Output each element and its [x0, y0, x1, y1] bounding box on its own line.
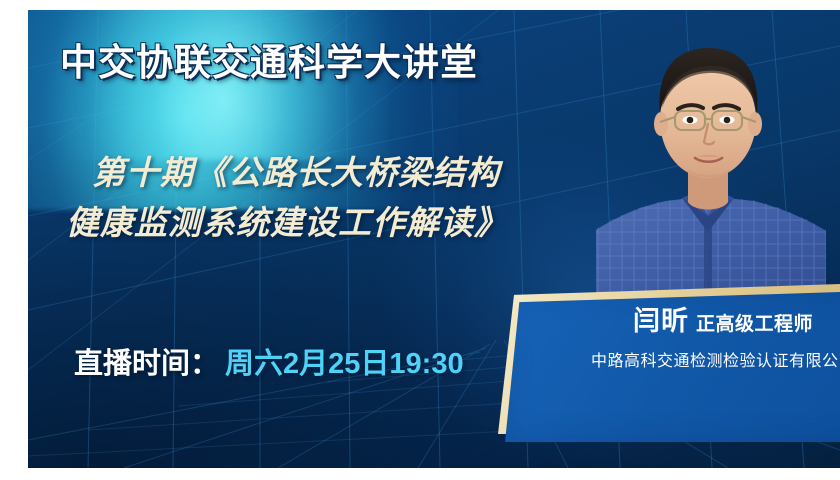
live-time-value: 周六2月25日19:30 [225, 348, 464, 380]
live-time-label: 直播时间： [74, 348, 219, 380]
poster-stage: 中交协联交通科学大讲堂 第十期《公路长大桥梁结构 健康监测系统建设工作解读》 直… [28, 10, 840, 468]
speaker-details: 闫昕正高级工程师 中路高科交通检测检验认证有限公司 [558, 308, 840, 371]
speaker-portrait [596, 10, 826, 310]
speaker-title: 正高级工程师 [696, 314, 813, 335]
subtitle-line-1: 第十期《公路长大桥梁结构 [66, 148, 596, 198]
speaker-name: 闫昕 [633, 306, 689, 336]
subtitle-line-2: 健康监测系统建设工作解读》 [66, 198, 596, 248]
poster-headline: 中交协联交通科学大讲堂 [60, 32, 478, 86]
speaker-organization: 中路高科交通检测检验认证有限公司 [558, 347, 840, 371]
portrait-illustration [596, 10, 826, 310]
speaker-name-row: 闫昕正高级工程师 [558, 308, 840, 335]
speaker-info-panel: 闫昕正高级工程师 中路高科交通检测检验认证有限公司 [498, 282, 840, 442]
webinar-poster: 中交协联交通科学大讲堂 第十期《公路长大桥梁结构 健康监测系统建设工作解读》 直… [0, 0, 840, 480]
live-time-row: 直播时间：周六2月25日19:30 [74, 340, 464, 382]
poster-subtitle: 第十期《公路长大桥梁结构 健康监测系统建设工作解读》 [66, 148, 596, 248]
